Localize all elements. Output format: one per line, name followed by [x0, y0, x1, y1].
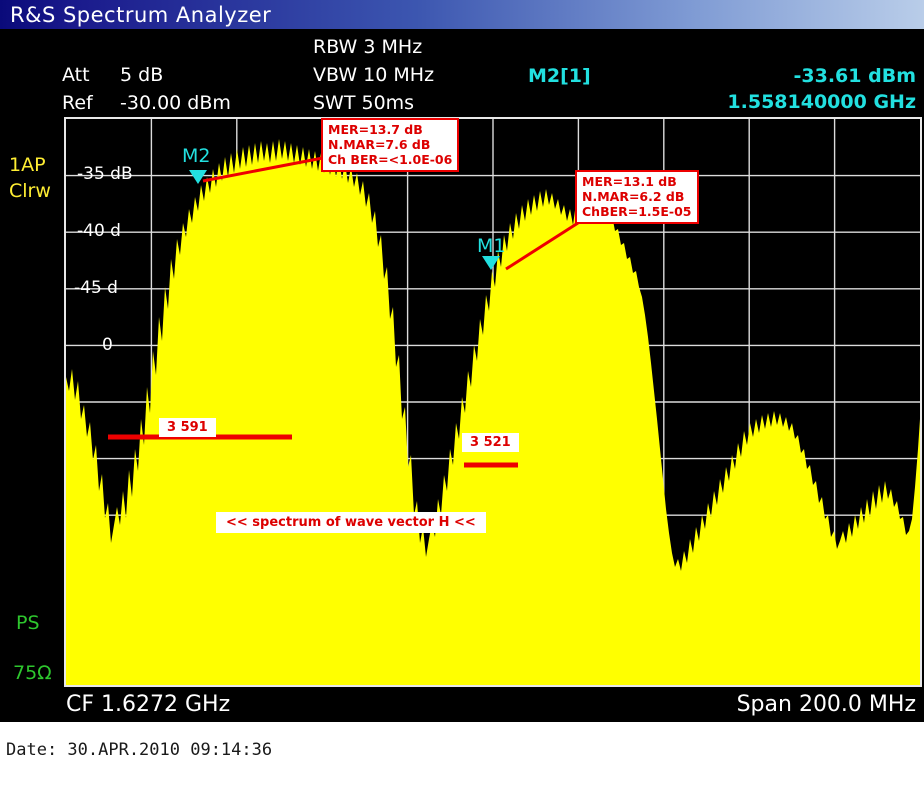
callout-m1-line3: ChBER=1.5E-05	[582, 204, 692, 219]
band-label-left: 3 591	[159, 418, 216, 437]
y-tick-label-3: -45 d	[74, 278, 118, 298]
callout-m1-line2: N.MAR=6.2 dB	[582, 189, 692, 204]
ref-label: Ref	[62, 92, 93, 114]
wave-vector-note: << spectrum of wave vector H <<	[216, 512, 486, 533]
analyzer-footer: CF 1.6272 GHz Span 200.0 MHz	[0, 689, 924, 722]
span-label[interactable]: Span 200.0 MHz	[737, 692, 916, 717]
vbw-value[interactable]: VBW 10 MHz	[313, 64, 434, 86]
marker-m1-triangle[interactable]	[481, 255, 501, 271]
att-label: Att	[62, 64, 90, 86]
spectrum-trace-svg	[66, 119, 920, 685]
spectrum-analyzer-screenshot: R&S Spectrum Analyzer Att 5 dB Ref -30.0…	[0, 0, 924, 791]
callout-m2-line1: MER=13.7 dB	[328, 122, 452, 137]
marker-m2-level: -33.61 dBm	[794, 65, 916, 87]
swt-value[interactable]: SWT 50ms	[313, 92, 414, 114]
att-value[interactable]: 5 dB	[120, 64, 163, 86]
callout-m1-line1: MER=13.1 dB	[582, 174, 692, 189]
marker-m2-id[interactable]: M2[1]	[528, 65, 591, 87]
spectrum-plot[interactable]	[64, 117, 922, 687]
y-tick-label-4: 0	[102, 335, 113, 355]
window-title: R&S Spectrum Analyzer	[10, 3, 271, 27]
date-bar: Date: 30.APR.2010 09:14:36	[0, 722, 924, 791]
y-tick-label-2: -40 d	[77, 221, 121, 241]
window-titlebar: R&S Spectrum Analyzer	[0, 0, 924, 29]
center-frequency-label[interactable]: CF 1.6272 GHz	[66, 692, 230, 717]
y-tick-label-1: -35 dB	[77, 164, 133, 184]
marker-m2-frequency: 1.558140000 GHz	[727, 91, 916, 113]
rbw-value[interactable]: RBW 3 MHz	[313, 36, 422, 58]
preselector-label: PS	[16, 612, 40, 634]
callout-m2-line3: Ch BER=<1.0E-06	[328, 152, 452, 167]
trace-mode-label[interactable]: Clrw	[9, 180, 51, 202]
marker-m1-tag[interactable]: M1	[477, 235, 505, 257]
callout-m1[interactable]: MER=13.1 dB N.MAR=6.2 dB ChBER=1.5E-05	[575, 170, 699, 224]
trace-detector-label[interactable]: 1AP	[9, 154, 46, 176]
band-label-right: 3 521	[462, 433, 519, 452]
callout-m2-line2: N.MAR=7.6 dB	[328, 137, 452, 152]
impedance-label: 75Ω	[13, 662, 52, 684]
callout-m2[interactable]: MER=13.7 dB N.MAR=7.6 dB Ch BER=<1.0E-06	[321, 118, 459, 172]
marker-m2-triangle[interactable]	[188, 169, 208, 185]
ref-value[interactable]: -30.00 dBm	[120, 92, 231, 114]
date-timestamp: Date: 30.APR.2010 09:14:36	[6, 740, 272, 760]
footer-divider	[64, 685, 922, 687]
marker-m2-tag[interactable]: M2	[182, 145, 210, 167]
analyzer-screen: Att 5 dB Ref -30.00 dBm RBW 3 MHz VBW 10…	[0, 29, 924, 722]
